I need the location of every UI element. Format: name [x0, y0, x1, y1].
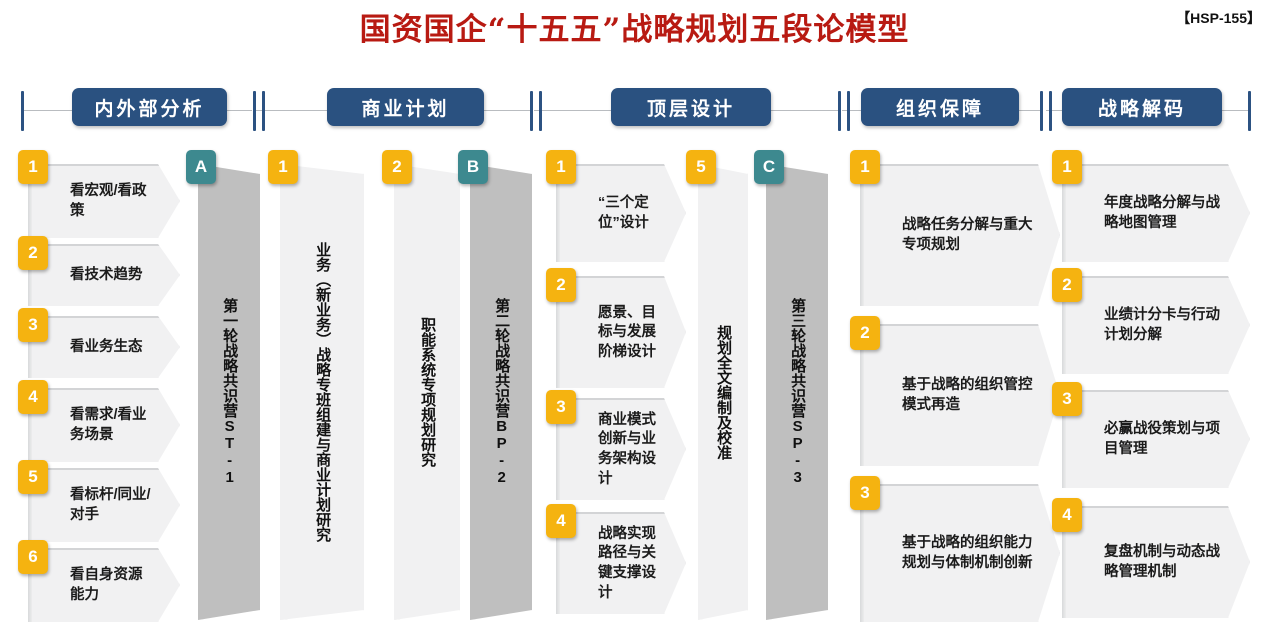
- step-card-label: 看需求/看业务场景: [28, 406, 180, 445]
- step-card-label: 年度战略分解与战略地图管理: [1062, 194, 1250, 233]
- badge-text: 3: [1062, 389, 1071, 409]
- step-card-c5-2[interactable]: 业绩计分卡与行动计划分解: [1062, 276, 1250, 374]
- phase-divider-tick: [530, 91, 533, 131]
- step-number-badge-c1-4: 4: [18, 380, 48, 414]
- phase-header-band: 内外部分析 商业计划 顶层设计 组织保障 战略解码: [0, 88, 1269, 134]
- step-number-badge-c4-3: 3: [850, 476, 880, 510]
- step-number-badge-c3-3: 3: [546, 390, 576, 424]
- badge-text: B: [467, 157, 479, 177]
- diagram-board: 看宏观/看政策 1 看技术趋势 2 看业务生态 3 看需求/看业务场景 4 看标…: [0, 140, 1269, 626]
- phase-divider-tick: [838, 91, 841, 131]
- step-number-badge-c1-5: 5: [18, 460, 48, 494]
- step-card-c5-1[interactable]: 年度战略分解与战略地图管理: [1062, 164, 1250, 262]
- step-card-label: 战略实现路径与关键支撑设计: [556, 525, 686, 603]
- step-card-label: 看业务生态: [28, 338, 169, 358]
- step-card-label: 基于战略的组织管控模式再造: [860, 376, 1060, 415]
- step-number-badge-c1-3: 3: [18, 308, 48, 342]
- step-number-badge-c5-3: 3: [1052, 382, 1082, 416]
- tall-card-c2-2[interactable]: 职能系统专项规划研究: [394, 164, 460, 620]
- step-card-c1-3[interactable]: 看业务生态: [28, 316, 180, 378]
- badge-text: 5: [696, 157, 705, 177]
- badge-text: 2: [860, 323, 869, 343]
- step-number-badge-c5-2: 2: [1052, 268, 1082, 302]
- step-card-c5-3[interactable]: 必赢战役策划与项目管理: [1062, 390, 1250, 488]
- badge-text: 2: [28, 243, 37, 263]
- tall-card-c2-1[interactable]: 业务（新业务）战略专班组建与商业计划研究: [280, 164, 364, 620]
- milestone-card-b[interactable]: 第二轮战略共识营BP-2: [470, 164, 532, 620]
- step-card-label: 愿景、目标与发展阶梯设计: [556, 304, 686, 363]
- milestone-badge-b: B: [458, 150, 488, 184]
- title-bar: 国资国企“十五五”战略规划五段论模型 【HSP-155】: [0, 0, 1269, 52]
- badge-text: 3: [556, 397, 565, 417]
- tall-card-label: 职能系统专项规划研究: [418, 317, 436, 467]
- phase-label: 顶层设计: [647, 94, 735, 121]
- phase-header-strategy-decoding[interactable]: 战略解码: [1062, 88, 1222, 126]
- tall-card-c3-5[interactable]: 规划全文编制及校准: [698, 164, 748, 620]
- phase-label: 内外部分析: [94, 94, 204, 121]
- step-card-c1-5[interactable]: 看标杆/同业/对手: [28, 468, 180, 542]
- badge-text: 1: [556, 157, 565, 177]
- badge-text: 1: [28, 157, 37, 177]
- step-card-label: 看自身资源能力: [28, 566, 180, 605]
- badge-text: 2: [1062, 275, 1071, 295]
- phase-divider-tick: [253, 91, 256, 131]
- phase-divider-tick: [539, 91, 542, 131]
- milestone-card-a[interactable]: 第一轮战略共识营ST-1: [198, 164, 260, 620]
- step-card-label: 战略任务分解与重大专项规划: [860, 216, 1060, 255]
- step-card-c5-4[interactable]: 复盘机制与动态战略管理机制: [1062, 506, 1250, 618]
- step-number-badge-c5-1: 1: [1052, 150, 1082, 184]
- phase-label: 商业计划: [361, 94, 449, 121]
- step-card-label: 业绩计分卡与行动计划分解: [1062, 306, 1250, 345]
- badge-text: 5: [28, 467, 37, 487]
- step-card-c1-4[interactable]: 看需求/看业务场景: [28, 388, 180, 462]
- phase-header-organizational-support[interactable]: 组织保障: [861, 88, 1019, 126]
- badge-text: 2: [392, 157, 401, 177]
- step-card-label: 看技术趋势: [28, 266, 169, 286]
- milestone-card-c[interactable]: 第三轮战略共识营SP-3: [766, 164, 828, 620]
- milestone-label: 第三轮战略共识营SP-3: [788, 298, 806, 486]
- phase-divider-tick: [21, 91, 24, 131]
- step-number-badge-c4-1: 1: [850, 150, 880, 184]
- tall-card-label: 规划全文编制及校准: [714, 325, 732, 460]
- badge-text: 1: [860, 157, 869, 177]
- step-number-badge-c3-1: 1: [546, 150, 576, 184]
- step-number-badge-c1-1: 1: [18, 150, 48, 184]
- step-number-badge-c2-2: 2: [382, 150, 412, 184]
- milestone-badge-a: A: [186, 150, 216, 184]
- step-card-label: “三个定位”设计: [556, 194, 686, 233]
- phase-label: 战略解码: [1098, 94, 1186, 121]
- step-number-badge-c3-5: 5: [686, 150, 716, 184]
- milestone-badge-c: C: [754, 150, 784, 184]
- milestone-label: 第二轮战略共识营BP-2: [492, 298, 510, 486]
- badge-text: 4: [28, 387, 37, 407]
- phase-divider-tick: [1248, 91, 1251, 131]
- phase-divider-tick: [262, 91, 265, 131]
- tall-card-label: 业务（新业务）战略专班组建与商业计划研究: [313, 242, 331, 542]
- phase-divider-tick: [1049, 91, 1052, 131]
- page-title: 国资国企“十五五”战略规划五段论模型: [0, 4, 1269, 49]
- step-card-c1-6[interactable]: 看自身资源能力: [28, 548, 180, 622]
- step-card-c4-1[interactable]: 战略任务分解与重大专项规划: [860, 164, 1060, 306]
- badge-text: C: [763, 157, 775, 177]
- step-card-c4-2[interactable]: 基于战略的组织管控模式再造: [860, 324, 1060, 466]
- phase-header-business-plan[interactable]: 商业计划: [327, 88, 484, 126]
- step-number-badge-c1-6: 6: [18, 540, 48, 574]
- badge-text: 4: [556, 511, 565, 531]
- badge-text: 4: [1062, 505, 1071, 525]
- step-card-label: 基于战略的组织能力规划与体制机制创新: [860, 534, 1060, 573]
- badge-text: 3: [28, 315, 37, 335]
- step-card-label: 必赢战役策划与项目管理: [1062, 420, 1250, 459]
- step-number-badge-c3-4: 4: [546, 504, 576, 538]
- step-number-badge-c2-1: 1: [268, 150, 298, 184]
- step-number-badge-c5-4: 4: [1052, 498, 1082, 532]
- step-card-label: 商业模式创新与业务架构设计: [556, 411, 686, 489]
- document-code-badge: 【HSP-155】: [1176, 8, 1261, 28]
- phase-divider-tick: [847, 91, 850, 131]
- badge-text: 3: [860, 483, 869, 503]
- step-card-label: 看标杆/同业/对手: [28, 486, 180, 525]
- milestone-label: 第一轮战略共识营ST-1: [220, 298, 238, 486]
- badge-text: 6: [28, 547, 37, 567]
- step-card-c1-2[interactable]: 看技术趋势: [28, 244, 180, 306]
- phase-divider-tick: [1040, 91, 1043, 131]
- badge-text: 1: [1062, 157, 1071, 177]
- step-card-label: 看宏观/看政策: [28, 182, 180, 221]
- badge-text: A: [195, 157, 207, 177]
- step-card-c4-3[interactable]: 基于战略的组织能力规划与体制机制创新: [860, 484, 1060, 622]
- step-card-label: 复盘机制与动态战略管理机制: [1062, 543, 1250, 582]
- badge-text: 1: [278, 157, 287, 177]
- badge-text: 2: [556, 275, 565, 295]
- step-number-badge-c3-2: 2: [546, 268, 576, 302]
- step-number-badge-c1-2: 2: [18, 236, 48, 270]
- phase-header-internal-external-analysis[interactable]: 内外部分析: [72, 88, 227, 126]
- phase-label: 组织保障: [896, 94, 984, 121]
- step-card-c1-1[interactable]: 看宏观/看政策: [28, 164, 180, 238]
- phase-header-top-level-design[interactable]: 顶层设计: [611, 88, 771, 126]
- step-number-badge-c4-2: 2: [850, 316, 880, 350]
